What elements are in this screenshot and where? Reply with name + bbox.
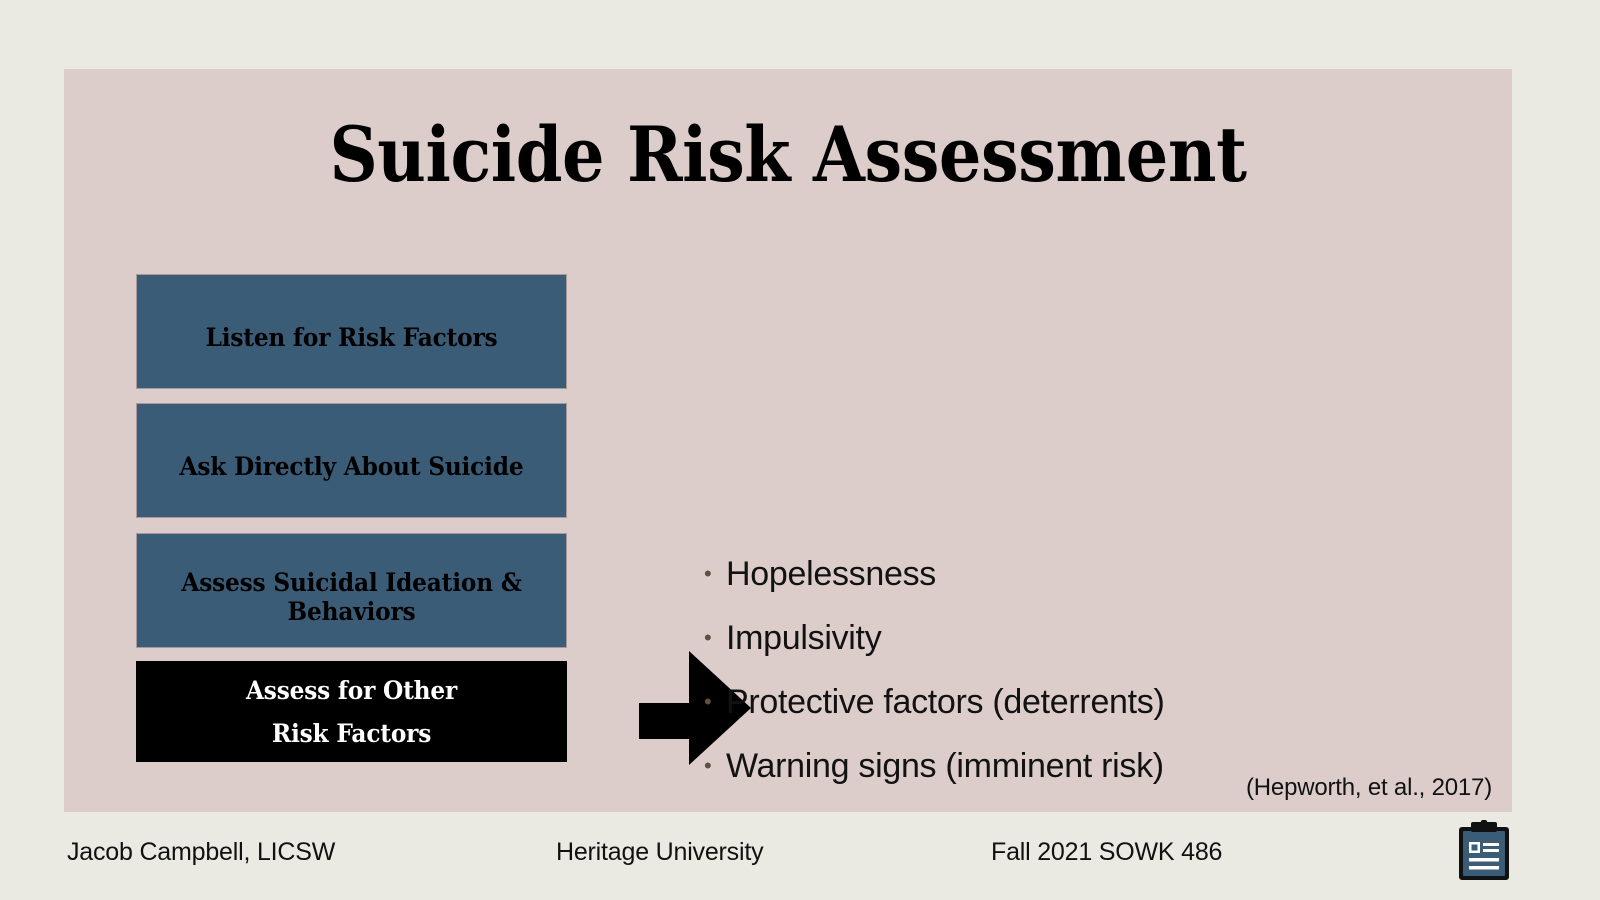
list-item: • Impulsivity bbox=[704, 619, 1444, 658]
arrow-shaft bbox=[639, 703, 691, 739]
step-box-label: Ask Directly About Suicide bbox=[152, 440, 551, 481]
step-box-label: Assess Suicidal Ideation & Behaviors bbox=[152, 556, 551, 626]
page-title: Suicide Risk Assessment bbox=[151, 117, 1425, 193]
list-item: • Protective factors (deterrents) bbox=[704, 683, 1444, 722]
footer-institution: Heritage University bbox=[556, 838, 763, 867]
step-box-label: Assess for Other Risk Factors bbox=[151, 669, 552, 755]
bullet-dot-icon: • bbox=[704, 755, 726, 777]
step-box-label-line2: Risk Factors bbox=[272, 719, 431, 748]
step-box-label: Listen for Risk Factors bbox=[152, 311, 551, 352]
step-box-assess-for-other-risk-factors[interactable]: Assess for Other Risk Factors bbox=[136, 661, 567, 762]
footer-presenter: Jacob Campbell, LICSW bbox=[67, 838, 335, 867]
step-box-label-line1: Assess for Other bbox=[246, 676, 457, 705]
slide-canvas: Suicide Risk Assessment Listen for Risk … bbox=[64, 69, 1512, 812]
list-item: • Hopelessness bbox=[704, 555, 1444, 594]
clipboard-icon[interactable] bbox=[1455, 820, 1513, 882]
step-box-listen-for-risk-factors[interactable]: Listen for Risk Factors bbox=[136, 274, 567, 389]
bullet-dot-icon: • bbox=[704, 691, 726, 713]
footer-course: Fall 2021 SOWK 486 bbox=[991, 838, 1222, 867]
list-item-label: Hopelessness bbox=[726, 555, 1444, 594]
risk-factor-list: • Hopelessness • Impulsivity • Protectiv… bbox=[704, 555, 1444, 811]
slide-footer: Jacob Campbell, LICSW Heritage Universit… bbox=[0, 812, 1600, 900]
step-box-assess-suicidal-ideation[interactable]: Assess Suicidal Ideation & Behaviors bbox=[136, 533, 567, 648]
bullet-dot-icon: • bbox=[704, 627, 726, 649]
list-item-label: Impulsivity bbox=[726, 619, 1444, 658]
step-box-ask-directly-about-suicide[interactable]: Ask Directly About Suicide bbox=[136, 403, 567, 518]
citation-text: (Hepworth, et al., 2017) bbox=[1246, 774, 1492, 802]
bullet-dot-icon: • bbox=[704, 563, 726, 585]
list-item-label: Protective factors (deterrents) bbox=[726, 683, 1444, 722]
